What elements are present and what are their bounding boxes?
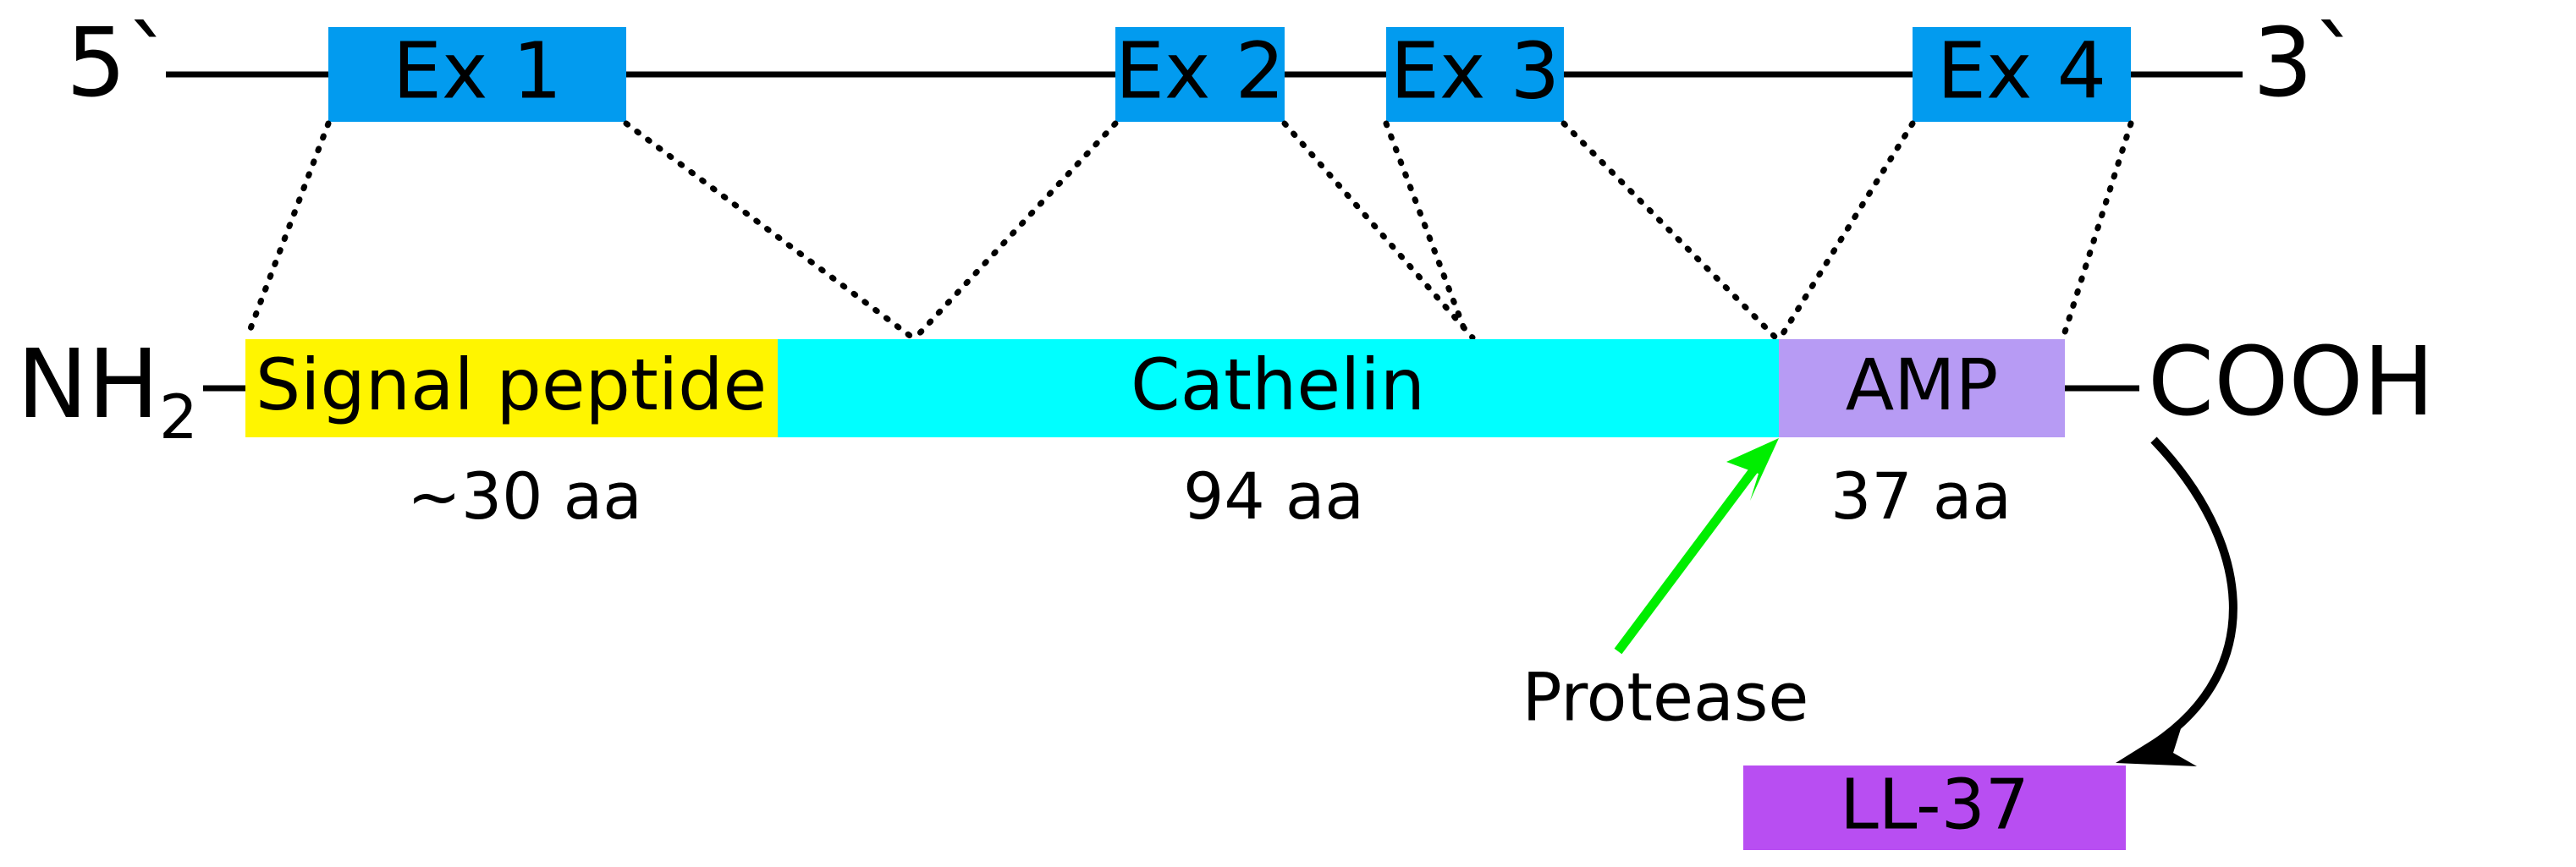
exon-box-1[interactable]: Ex 1: [328, 25, 626, 122]
exon-1-label: Ex 1: [393, 25, 562, 116]
cathelin-length: 94 aa: [1183, 458, 1364, 534]
exon-box-2[interactable]: Ex 2: [1115, 25, 1285, 122]
gene-track: 5` Ex 1 Ex 2 Ex 3 Ex 4 3`: [66, 8, 2360, 122]
splice-line-ex2-right: [1285, 123, 1472, 337]
figure-canvas: 5` Ex 1 Ex 2 Ex 3 Ex 4 3`: [0, 0, 2576, 867]
exon-box-4[interactable]: Ex 4: [1913, 25, 2131, 122]
domain-signal-peptide[interactable]: Signal peptide: [245, 339, 778, 437]
amp-length: 37 aa: [1830, 458, 2012, 534]
domain-length-labels: ~30 aa 94 aa 37 aa: [407, 458, 2012, 534]
n-terminus-subscript: 2: [159, 381, 198, 453]
ll37-box[interactable]: LL-37: [1743, 765, 2126, 850]
domain-cathelin[interactable]: Cathelin: [778, 339, 1779, 437]
splice-connectors: [247, 123, 2131, 337]
exon-4-label: Ex 4: [1937, 25, 2106, 116]
cleavage-curve: [2154, 440, 2233, 744]
splice-line-ex3-right: [1564, 123, 1775, 337]
splice-line-ex3-left: [1386, 123, 1467, 337]
protease-annotation: Protease: [1522, 438, 1809, 736]
five-prime-label: 5`: [66, 8, 173, 118]
splice-line-ex1-left: [247, 123, 328, 337]
cleavage-arrow-head: [2116, 721, 2197, 766]
ll37-label: LL-37: [1840, 765, 2029, 845]
splice-line-ex4-right: [2063, 123, 2131, 337]
exon-3-label: Ex 3: [1390, 25, 1560, 116]
three-prime-label: 3`: [2253, 8, 2360, 118]
cathelicidin-diagram: 5` Ex 1 Ex 2 Ex 3 Ex 4 3`: [0, 0, 2576, 867]
n-terminus-base: NH: [17, 330, 159, 440]
protein-track: NH2 Signal peptide Cathelin AMP COOH: [17, 327, 2435, 453]
splice-line-ex1-right: [626, 123, 912, 337]
n-terminus-label: NH2: [17, 330, 198, 453]
protease-label: Protease: [1522, 660, 1809, 736]
signal-peptide-length: ~30 aa: [407, 458, 642, 534]
cathelin-label: Cathelin: [1131, 343, 1425, 426]
c-terminus-label: COOH: [2148, 327, 2435, 437]
protease-arrow-shaft: [1618, 464, 1759, 651]
splice-line-ex4-left: [1781, 123, 1913, 337]
exon-box-3[interactable]: Ex 3: [1386, 25, 1564, 122]
signal-peptide-label: Signal peptide: [256, 343, 767, 426]
domain-amp[interactable]: AMP: [1779, 339, 2065, 437]
exon-2-label: Ex 2: [1115, 25, 1285, 116]
splice-line-ex2-left: [916, 123, 1115, 337]
amp-label: AMP: [1846, 343, 1999, 426]
